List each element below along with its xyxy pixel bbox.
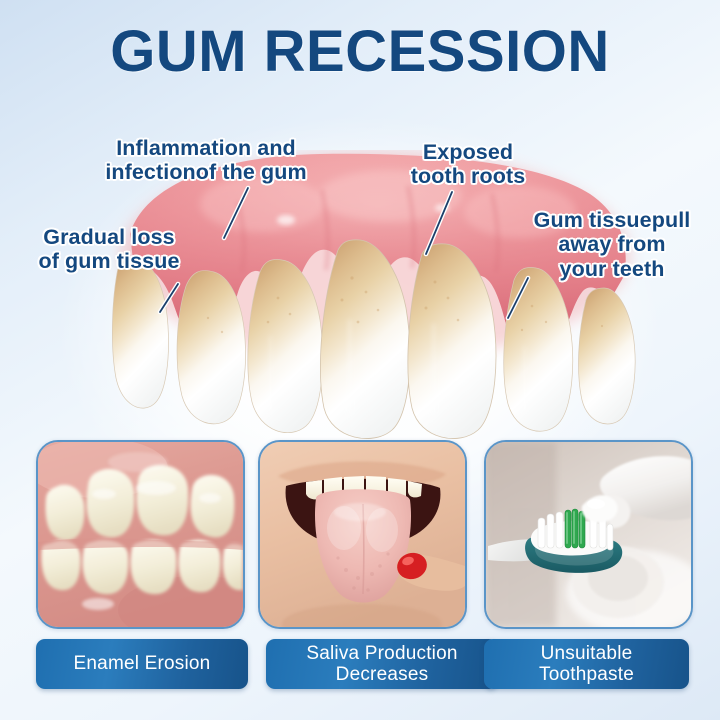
cause-caption-enamel-erosion: Enamel Erosion (36, 639, 248, 689)
teeth-gums-closeup-photo (36, 440, 245, 629)
cause-caption-unsuitable-toothpaste: Unsuitable Toothpaste (484, 639, 689, 689)
cause-cards: Enamel Erosion (0, 440, 720, 695)
tongue-out-photo (258, 440, 467, 629)
toothbrush-toothpaste-photo (484, 440, 693, 629)
cause-card-saliva-production: Saliva Production Decreases (258, 440, 463, 689)
cause-caption-saliva-production: Saliva Production Decreases (266, 639, 498, 689)
callout-pull-away: Gum tissuepull away from your teeth (516, 208, 708, 281)
infographic-stage: GUM RECESSION (0, 0, 720, 720)
cause-card-unsuitable-toothpaste: Unsuitable Toothpaste (484, 440, 689, 689)
callout-exposed-roots: Exposed tooth roots (398, 140, 538, 189)
page-title: GUM RECESSION (0, 22, 720, 83)
gum-recession-illustration (90, 150, 650, 440)
callout-inflammation: Inflammation and infectionof the gum (76, 136, 336, 185)
cause-card-enamel-erosion: Enamel Erosion (36, 440, 241, 689)
callout-gradual-loss: Gradual loss of gum tissue (14, 225, 204, 274)
